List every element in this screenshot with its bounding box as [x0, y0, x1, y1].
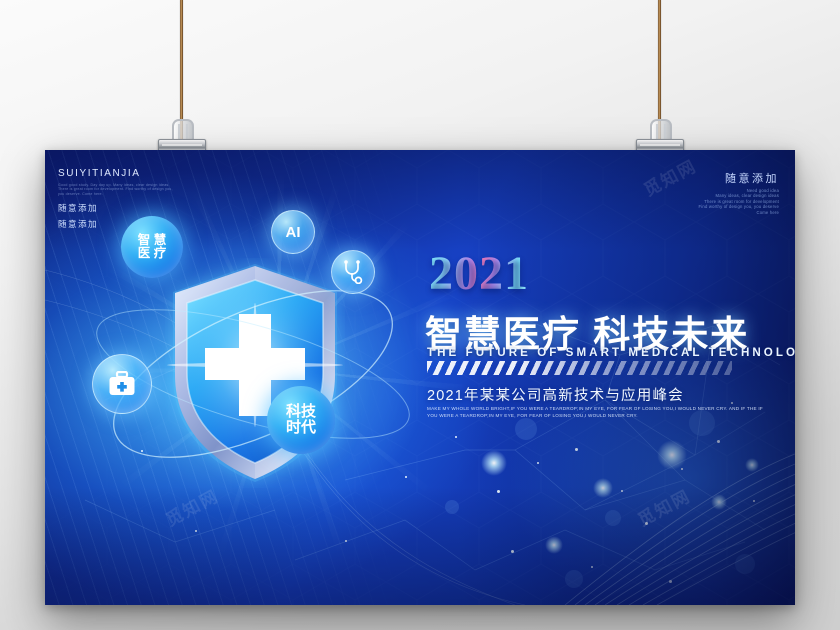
badge-tech-era-line-1: 科技 [286, 404, 316, 420]
brand-cn-line-1: 随意添加 [58, 202, 98, 214]
headline-title-en: THE FUTURE OF SMART MEDICAL TECHNOLOGY [427, 346, 795, 359]
shield-emblem [165, 258, 345, 488]
watermark-board-bottom-left: 觅知网 [160, 482, 222, 531]
top-right-en-line-5: Come here [659, 210, 779, 215]
badge-medical-kit[interactable] [92, 354, 152, 414]
top-right-en-block: Need good idea Many ideas, clear design … [659, 188, 779, 215]
badge-smart-medical-line-2: 医 疗 [138, 247, 166, 261]
badge-ai[interactable]: AI [271, 210, 315, 254]
medical-briefcase-icon [108, 371, 136, 397]
badge-tech-era-line-2: 时代 [286, 420, 316, 436]
badge-smart-medical-line-1: 智 慧 [138, 234, 166, 248]
headline-subtitle-cn: 2021年某某公司高新技术与应用峰会 [427, 384, 684, 405]
watermark-board-bottom-right: 觅知网 [632, 482, 694, 531]
badge-smart-medical[interactable]: 智 慧 医 疗 [121, 216, 183, 278]
headline-year: 2021 [429, 246, 529, 301]
stethoscope-icon [342, 260, 364, 284]
brand-cn-line-2: 随意添加 [58, 218, 98, 230]
badge-stethoscope[interactable] [331, 250, 375, 294]
diagonal-stripe-divider [427, 361, 732, 375]
brand-name: SUIYITIANJIA [58, 168, 141, 179]
poster-board: SUIYITIANJIA Good good study. Day day up… [45, 150, 795, 605]
badge-ai-label: AI [286, 224, 301, 241]
binder-clip-right [636, 120, 682, 154]
badge-tech-era[interactable]: 科技 时代 [267, 386, 335, 454]
top-right-cn-label: 随意添加 [725, 170, 779, 186]
binder-clip-left [158, 120, 204, 154]
headline-subtitle-en: MAKE MY WHOLE WORLD BRIGHT,IF YOU WERE A… [427, 405, 763, 419]
brand-tagline: Good good study. Day day up. Many ideas,… [58, 183, 178, 196]
